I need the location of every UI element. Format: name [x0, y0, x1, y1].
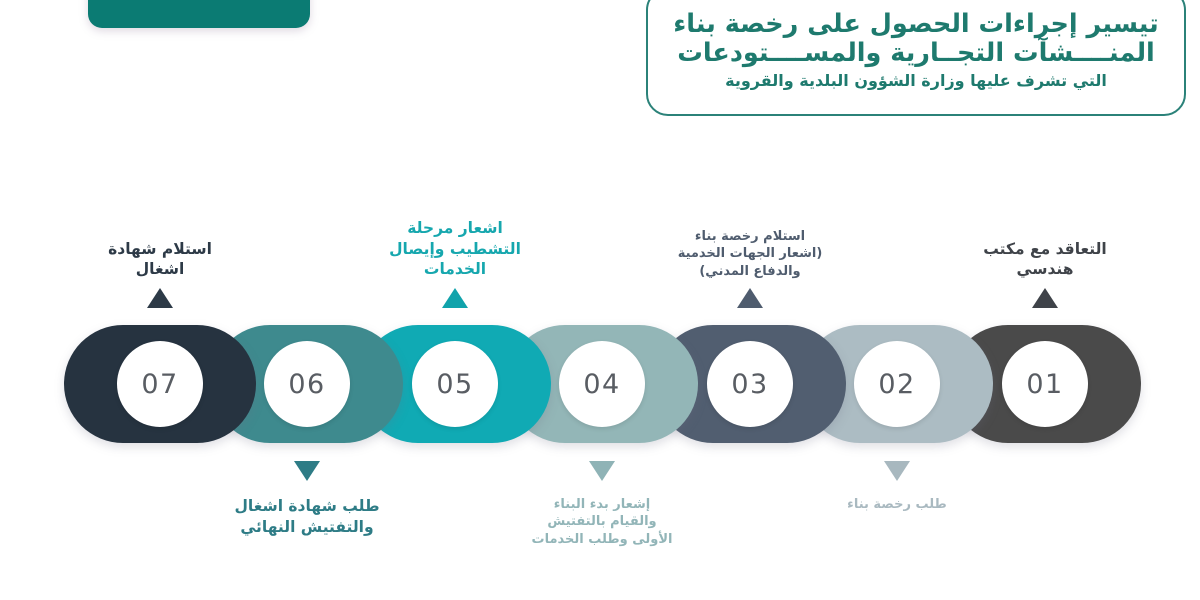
step-number-label: 02: [878, 369, 915, 400]
step-caption-line: اشعار مرحلة: [350, 218, 560, 239]
step-arrow-down-icon-02: [884, 461, 910, 481]
step-caption-line: التعاقد مع مكتب: [940, 239, 1150, 260]
step-caption-04: إشعار بدء البناءوالقيام بالتفتيشالأولى و…: [497, 496, 707, 548]
step-caption-line: (اشعار الجهات الخدمية: [645, 245, 855, 262]
step-caption-line: اشغال: [55, 259, 265, 280]
timeline-step-disc-05[interactable]: 05: [412, 341, 498, 427]
step-caption-05: اشعار مرحلةالتشطيب وإيصالالخدمات: [350, 218, 560, 280]
step-caption-03: استلام رخصة بناء(اشعار الجهات الخدميةوال…: [645, 228, 855, 280]
timeline-step-disc-06[interactable]: 06: [264, 341, 350, 427]
step-number-label: 06: [288, 369, 325, 400]
step-arrow-down-icon-06: [294, 461, 320, 481]
step-caption-06: طلب شهادة اشغالوالتفتيش النهائي: [202, 496, 412, 537]
step-arrow-up-icon-05: [442, 288, 468, 308]
step-arrow-up-icon-01: [1032, 288, 1058, 308]
step-caption-line: التشطيب وإيصال: [350, 239, 560, 260]
step-caption-line: استلام رخصة بناء: [645, 228, 855, 245]
step-number-label: 04: [583, 369, 620, 400]
step-number-label: 07: [141, 369, 178, 400]
step-caption-line: إشعار بدء البناء: [497, 496, 707, 513]
step-number-label: 01: [1026, 369, 1063, 400]
timeline-step-disc-03[interactable]: 03: [707, 341, 793, 427]
step-number-label: 05: [436, 369, 473, 400]
step-caption-line: والدفاع المدني): [645, 263, 855, 280]
step-caption-line: الأولى وطلب الخدمات: [497, 531, 707, 548]
step-caption-line: طلب رخصة بناء: [792, 496, 1002, 513]
step-number-label: 03: [731, 369, 768, 400]
step-arrow-up-icon-03: [737, 288, 763, 308]
step-arrow-down-icon-04: [589, 461, 615, 481]
step-caption-line: الخدمات: [350, 259, 560, 280]
timeline-step-disc-07[interactable]: 07: [117, 341, 203, 427]
step-arrow-up-icon-07: [147, 288, 173, 308]
step-caption-07: استلام شهادةاشغال: [55, 239, 265, 280]
step-caption-01: التعاقد مع مكتبهندسي: [940, 239, 1150, 280]
step-caption-line: طلب شهادة اشغال: [202, 496, 412, 517]
step-caption-line: والقيام بالتفتيش: [497, 513, 707, 530]
step-caption-02: طلب رخصة بناء: [792, 496, 1002, 513]
step-caption-line: والتفتيش النهائي: [202, 517, 412, 538]
step-caption-line: هندسي: [940, 259, 1150, 280]
timeline-step-disc-01[interactable]: 01: [1002, 341, 1088, 427]
step-caption-line: استلام شهادة: [55, 239, 265, 260]
process-timeline: 07استلام شهادةاشغال06طلب شهادة اشغالوالت…: [0, 0, 1200, 600]
timeline-step-disc-02[interactable]: 02: [854, 341, 940, 427]
timeline-step-disc-04[interactable]: 04: [559, 341, 645, 427]
